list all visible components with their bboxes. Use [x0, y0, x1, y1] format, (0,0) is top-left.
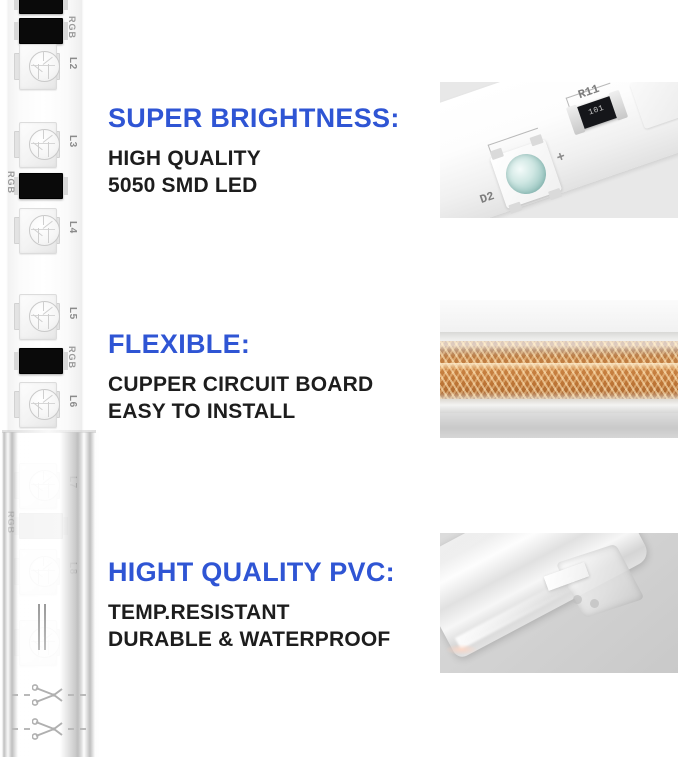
- smd-led-l4: [14, 208, 60, 252]
- feature-line: EASY TO INSTALL: [108, 399, 373, 426]
- feature-line: CUPPER CIRCUIT BOARD: [108, 372, 373, 399]
- chip-label-rgb: RGB: [67, 346, 76, 369]
- led-label-l6: L6: [67, 395, 77, 408]
- rgb-driver-chip: [19, 348, 63, 374]
- pvc-bottom-shadow: [440, 413, 678, 438]
- feature-line: 5050 SMD LED: [108, 173, 400, 200]
- smd-led-l5: [14, 294, 60, 338]
- feature-heading: SUPER BRIGHTNESS:: [108, 104, 400, 132]
- feature-block-super-brightness: SUPER BRIGHTNESS: HIGH QUALITY 5050 SMD …: [108, 104, 400, 200]
- scissors-icon: [32, 684, 66, 706]
- feature-block-pvc-quality: HIGHT QUALITY PVC: TEMP.RESISTANT DURABL…: [108, 558, 395, 654]
- feature-line: DURABLE & WATERPROOF: [108, 627, 395, 654]
- lead-wires: [38, 604, 52, 650]
- copper-weave-texture: [440, 341, 678, 399]
- smd-led-l6: [14, 382, 60, 426]
- pvc-warm-reflection: [445, 644, 478, 655]
- cut-mark: [12, 684, 86, 706]
- pvc-sleeve-top-edge: [2, 430, 96, 433]
- copper-specular-line: [440, 363, 678, 369]
- rgb-driver-chip: [19, 18, 63, 44]
- product-feature-infographic: RGB L2 L3 RGB: [0, 0, 679, 757]
- copper-braid-photo: [440, 300, 678, 438]
- feature-block-flexible: FLEXIBLE: CUPPER CIRCUIT BOARD EASY TO I…: [108, 330, 373, 426]
- rgb-driver-chip: [19, 0, 63, 14]
- led-label-l5: L5: [67, 307, 77, 320]
- pvc-top-highlight: [440, 300, 678, 333]
- smd-led-macro-photo: 101 R11 D2 +: [440, 82, 678, 218]
- led-label-l4: L4: [67, 221, 77, 234]
- pvc-sleeve-overlay: [0, 432, 100, 757]
- chip-label-rgb: RGB: [6, 171, 15, 194]
- pvc-tube-end-photo: [440, 533, 678, 673]
- feature-heading: FLEXIBLE:: [108, 330, 373, 358]
- feature-line: TEMP.RESISTANT: [108, 600, 395, 627]
- smd-led-l3: [14, 122, 60, 166]
- led-label-l2: L2: [67, 57, 77, 70]
- rgb-driver-chip: [19, 173, 63, 199]
- chip-label-rgb: RGB: [67, 16, 76, 39]
- led-label-l3: L3: [67, 135, 77, 148]
- scissors-icon: [32, 718, 66, 740]
- led-strip-column: RGB L2 L3 RGB: [0, 0, 100, 757]
- feature-heading: HIGHT QUALITY PVC:: [108, 558, 395, 586]
- smd-led-l2: [14, 44, 60, 88]
- cut-mark: [12, 718, 86, 740]
- feature-line: HIGH QUALITY: [108, 146, 400, 173]
